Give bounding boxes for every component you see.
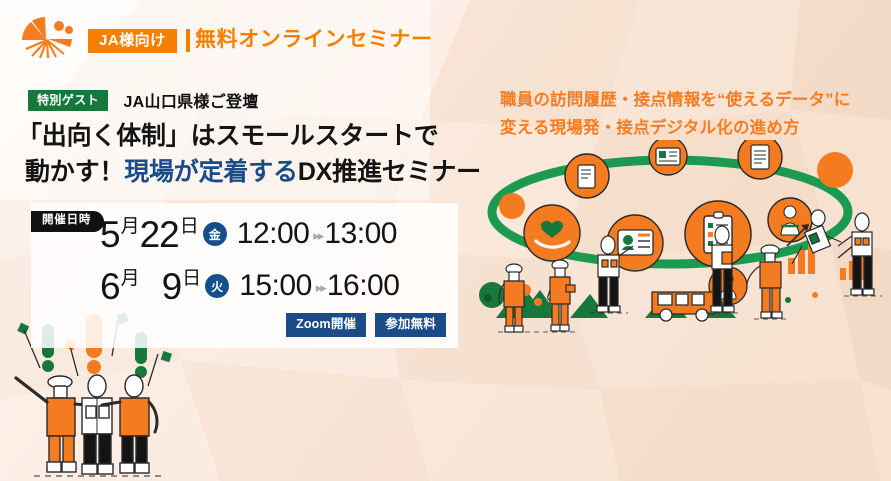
- page-title: 「出向く体制」はスモールスタートで 動かす！現場が定着するDX推進セミナー: [17, 119, 481, 190]
- schedule-month: 5: [100, 216, 120, 253]
- header-title: 無料オンラインセミナー: [195, 27, 433, 52]
- special-guest-row: 特別ゲスト JA山口県様ご登壇: [28, 88, 259, 112]
- pill-free: 参加無料: [375, 313, 446, 337]
- schedule-row: 6 月 9 日 火 15:00 ▸▸ 16:00: [100, 260, 399, 312]
- schedule-dow-badge: 火: [205, 274, 229, 298]
- schedule-tag: 開催日時: [31, 211, 104, 232]
- headline-line-2: 動かす！現場が定着するDX推進セミナー: [17, 155, 481, 191]
- banner-header: JA様向け 無料オンラインセミナー: [0, 0, 891, 70]
- dot-node-left: [499, 193, 525, 219]
- schedule-day: 22: [140, 216, 179, 253]
- ja-audience-badge: JA様向け: [88, 29, 177, 53]
- headline-line-2-highlight: 現場が定着する: [124, 158, 298, 186]
- headline-line-1: 「出向く体制」はスモールスタートで: [17, 122, 439, 150]
- worker-orange-2: [550, 260, 575, 331]
- subheading-line-2: 変える現場発・接点デジタル化の進め方: [500, 114, 850, 142]
- schedule-day: 9: [140, 268, 182, 305]
- schedule-end-time: 13:00: [324, 219, 397, 249]
- green-bush: [479, 282, 505, 308]
- schedule-day-unit: 日: [180, 217, 199, 236]
- headline-line-2-a: 動かす！: [25, 158, 124, 186]
- schedule-arrow-icon: ▸▸: [316, 280, 325, 296]
- seminar-banner: JA様向け 無料オンラインセミナー 特別ゲスト JA山口県様ご登壇 「出向く体制…: [0, 0, 891, 481]
- header-accent-bar: [186, 29, 190, 52]
- dot-node-right: [817, 152, 853, 188]
- pill-zoom: Zoom開催: [286, 313, 366, 337]
- data-cycle-ring-illustration: [470, 140, 891, 355]
- subheading-copy: 職員の訪問履歴・接点情報を“使えるデータ”に 変える現場発・接点デジタル化の進め…: [500, 86, 850, 143]
- special-guest-name: JA山口県様ご登壇: [123, 88, 258, 112]
- schedule-arrow-icon: ▸▸: [313, 228, 322, 244]
- schedule-row: 5 月 22 日 金 12:00 ▸▸ 13:00: [100, 208, 399, 260]
- schedule-month: 6: [100, 268, 120, 305]
- worker-black-center: [82, 375, 113, 474]
- event-pills: Zoom開催 参加無料: [286, 313, 446, 337]
- hand-heart-icon: [524, 205, 580, 261]
- headline-line-2-c: DX推進セミナー: [298, 158, 481, 186]
- schedule-start-time: 12:00: [237, 219, 310, 249]
- schedule-start-time: 15:00: [239, 271, 312, 301]
- schedule-day-unit: 日: [182, 269, 201, 288]
- subheading-line-1: 職員の訪問履歴・接点情報を“使えるデータ”に: [500, 86, 850, 114]
- schedule-month-unit: 月: [121, 269, 140, 288]
- schedule-rows: 5 月 22 日 金 12:00 ▸▸ 13:00 6 月 9 日 火 15:0…: [100, 208, 399, 312]
- mobile-device-icon: [565, 154, 609, 198]
- fan-burst-logo: [18, 16, 84, 58]
- schedule-dow-badge: 金: [203, 222, 227, 246]
- schedule-end-time: 16:00: [327, 271, 400, 301]
- schedule-month-unit: 月: [121, 217, 140, 236]
- document-icon: [738, 140, 782, 179]
- special-guest-badge: 特別ゲスト: [28, 90, 108, 111]
- id-card-icon: [649, 140, 687, 175]
